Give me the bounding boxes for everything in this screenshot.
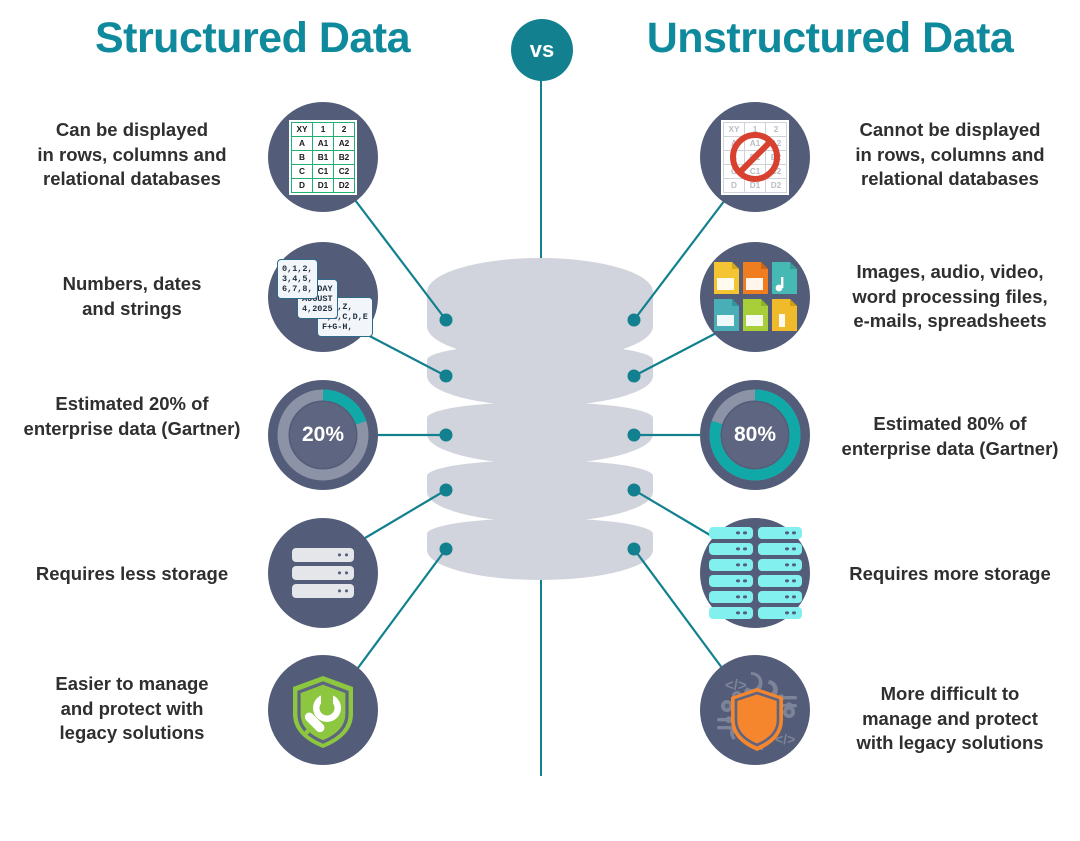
data-card-numbers: 0,1,2,3,4,5,6,7,8,: [277, 259, 318, 299]
icon-donut-chart-80: 80%: [700, 380, 810, 490]
prohibition-icon: [728, 130, 782, 184]
icon-spreadsheet-table-blocked: XY12 AA1A2 BB1B2 CC1C2 DD1D2: [700, 102, 810, 212]
label-right-row4: Requires more storage: [824, 562, 1076, 587]
icon-shield-wrench: [268, 655, 378, 765]
table-cell: C: [292, 164, 313, 178]
icon-donut-chart-20: 20%: [268, 380, 378, 490]
label-right-row2: Images, audio, video,word processing fil…: [824, 260, 1076, 334]
shield-complex-graphic: </> </>: [707, 662, 803, 758]
shield-wrench-graphic: [275, 662, 371, 758]
server-bar: [709, 607, 753, 619]
table-cell: A: [292, 136, 313, 150]
server-rack-column: [758, 527, 802, 619]
table-cell: 2: [334, 122, 355, 136]
server-bar: [758, 575, 802, 587]
table-cell: XY: [292, 122, 313, 136]
file-types-group: [712, 260, 798, 334]
label-left-row5: Easier to manageand protect withlegacy s…: [8, 672, 256, 746]
server-bar: [709, 591, 753, 603]
table-cell: D2: [334, 178, 355, 192]
file-icon-email: [714, 299, 739, 331]
table-cell: C2: [334, 164, 355, 178]
table-cell: C1: [313, 164, 334, 178]
label-left-row3: Estimated 20% ofenterprise data (Gartner…: [8, 392, 256, 441]
server-rack-group: [292, 548, 354, 598]
server-rack-column: [709, 527, 753, 619]
server-bar: [758, 527, 802, 539]
donut-chart-unstructured: 80%: [709, 389, 801, 481]
file-icon-xls: [743, 299, 768, 331]
server-bar: [758, 543, 802, 555]
server-bar: [709, 543, 753, 555]
label-left-row4: Requires less storage: [8, 562, 256, 587]
label-left-row1: Can be displayedin rows, columns andrela…: [8, 118, 256, 192]
server-rack-group-large: [709, 527, 802, 619]
table-icon-wrap-blocked: XY12 AA1A2 BB1B2 CC1C2 DD1D2: [721, 120, 789, 195]
file-icon-zip: [772, 299, 797, 331]
icon-server-rack-small: [268, 518, 378, 628]
icon-data-cards-icon: X,Y,Z,A,B,C,D,EF+G-H, FRIDAYAUGUST4,2025…: [268, 242, 378, 352]
table-cell: D1: [313, 178, 334, 192]
table-cell: A2: [334, 136, 355, 150]
label-right-row1: Cannot be displayedin rows, columns andr…: [824, 118, 1076, 192]
table-cell: B: [292, 150, 313, 164]
table-cell: A1: [313, 136, 334, 150]
label-right-row3: Estimated 80% ofenterprise data (Gartner…: [824, 412, 1076, 461]
label-right-row5: More difficult tomanage and protectwith …: [824, 682, 1076, 756]
data-cards-group: X,Y,Z,A,B,C,D,EF+G-H, FRIDAYAUGUST4,2025…: [277, 257, 369, 337]
icon-file-types: [700, 242, 810, 352]
server-bar: [758, 559, 802, 571]
label-left-row2: Numbers, datesand strings: [8, 272, 256, 321]
donut-value-label: 80%: [709, 389, 801, 481]
server-bar: [292, 584, 354, 598]
file-icon-mp3: [772, 262, 797, 294]
icon-spreadsheet-table-icon: XY12 AA1A2 BB1B2 CC1C2 DD1D2: [268, 102, 378, 212]
server-bar: [292, 566, 354, 580]
table-cell: D: [292, 178, 313, 192]
table-cell: 1: [313, 122, 334, 136]
table-cell: B2: [334, 150, 355, 164]
server-bar: [758, 591, 802, 603]
table-icon-wrap: XY12 AA1A2 BB1B2 CC1C2 DD1D2: [289, 120, 357, 195]
table-cell: B1: [313, 150, 334, 164]
spreadsheet-table: XY12 AA1A2 BB1B2 CC1C2 DD1D2: [291, 122, 355, 193]
donut-value-label: 20%: [277, 389, 369, 481]
icon-server-rack-large: [700, 518, 810, 628]
infographic-canvas: Structured Data Unstructured Data vs: [0, 0, 1080, 841]
server-bar: [758, 607, 802, 619]
file-icon-avi: [743, 262, 768, 294]
server-bar: [709, 527, 753, 539]
file-icon-jpg: [714, 262, 739, 294]
server-bar: [709, 559, 753, 571]
server-bar: [292, 548, 354, 562]
server-bar: [709, 575, 753, 587]
icon-shield-complex: </> </>: [700, 655, 810, 765]
donut-chart-structured: 20%: [277, 389, 369, 481]
